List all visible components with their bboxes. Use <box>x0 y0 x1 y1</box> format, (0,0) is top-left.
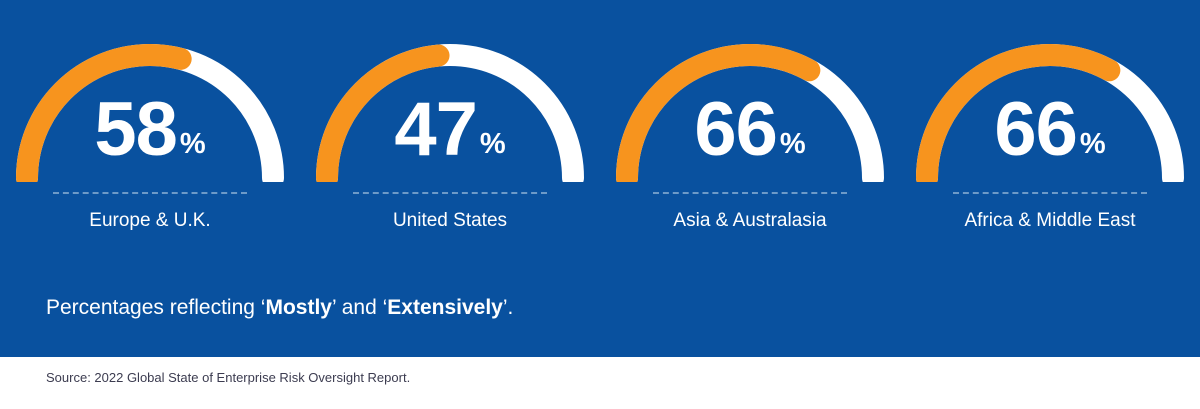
caption-text-2: and <box>336 296 383 319</box>
gauge-value-asia-australasia: 66% <box>600 92 900 168</box>
dashed-divider <box>653 192 847 196</box>
source-citation: Source: 2022 Global State of Enterprise … <box>46 370 410 385</box>
gauge-card-europe-uk: 58% Europe & U.K. <box>0 30 300 245</box>
gauges-row: 58% Europe & U.K. 47% United States <box>0 30 1200 245</box>
gauge-card-africa-middle-east: 66% Africa & Middle East <box>900 30 1200 245</box>
gauge-label-united-states: United States <box>300 210 600 232</box>
dashed-divider <box>353 192 547 196</box>
gauge-card-united-states: 47% United States <box>300 30 600 245</box>
dashed-divider <box>53 192 247 196</box>
caption-note: Percentages reflecting ‘Mostly’ and ‘Ext… <box>46 296 513 320</box>
gauge-label-europe-uk: Europe & U.K. <box>0 210 300 232</box>
gauge-card-asia-australasia: 66% Asia & Australasia <box>600 30 900 245</box>
gauge-number: 66 <box>994 87 1077 172</box>
percent-symbol: % <box>180 128 206 160</box>
caption-text-3: . <box>508 296 514 319</box>
gauge-label-africa-middle-east: Africa & Middle East <box>900 210 1200 232</box>
percent-symbol: % <box>780 128 806 160</box>
caption-bold-mostly: Mostly <box>265 296 332 319</box>
caption-bold-extensively: Extensively <box>387 296 503 319</box>
gauge-number: 66 <box>694 87 777 172</box>
gauge-value-africa-middle-east: 66% <box>900 92 1200 168</box>
percent-symbol: % <box>480 128 506 160</box>
gauge-label-asia-australasia: Asia & Australasia <box>600 210 900 232</box>
caption-text-1: Percentages reflecting <box>46 296 261 319</box>
infographic-root: 58% Europe & U.K. 47% United States <box>0 0 1200 409</box>
gauge-value-europe-uk: 58% <box>0 92 300 168</box>
dashed-divider <box>953 192 1147 196</box>
percent-symbol: % <box>1080 128 1106 160</box>
gauge-value-united-states: 47% <box>300 92 600 168</box>
gauge-number: 58 <box>94 87 177 172</box>
gauge-number: 47 <box>394 87 477 172</box>
